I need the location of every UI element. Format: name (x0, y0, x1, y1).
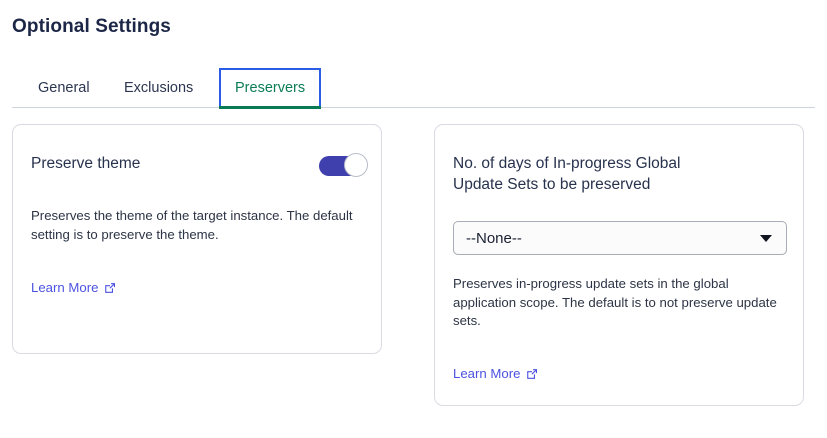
learn-more-label: Learn More (31, 280, 98, 295)
tab-exclusions[interactable]: Exclusions (108, 68, 209, 108)
card-preserve-theme-description: Preserves the theme of the target instan… (31, 207, 359, 244)
learn-more-label: Learn More (453, 366, 520, 381)
card-update-sets-description: Preserves in-progress update sets in the… (453, 275, 781, 331)
card-update-sets-header: No. of days of In-progress Global Update… (453, 153, 785, 195)
update-sets-days-select[interactable]: --None-- (453, 221, 787, 255)
page-title: Optional Settings (12, 16, 171, 38)
card-update-sets: No. of days of In-progress Global Update… (434, 124, 804, 406)
card-preserve-theme-header: Preserve theme (31, 153, 363, 176)
update-sets-learn-more-link[interactable]: Learn More (453, 366, 538, 381)
tabstrip: General Exclusions Preservers (0, 64, 827, 108)
external-link-icon (104, 282, 116, 294)
update-sets-days-select-wrapper: --None-- (453, 221, 787, 255)
external-link-icon (526, 368, 538, 380)
select-selected-value: --None-- (466, 230, 760, 247)
tab-preservers[interactable]: Preservers (219, 68, 321, 108)
card-update-sets-title: No. of days of In-progress Global Update… (453, 153, 723, 195)
tab-general[interactable]: General (22, 68, 106, 108)
preserve-theme-toggle[interactable] (319, 156, 363, 176)
preserve-theme-learn-more-link[interactable]: Learn More (31, 280, 116, 295)
chevron-down-icon (760, 235, 772, 242)
card-preserve-theme-title: Preserve theme (31, 153, 140, 174)
card-preserve-theme: Preserve theme Preserves the theme of th… (12, 124, 382, 354)
toggle-knob (344, 153, 368, 177)
